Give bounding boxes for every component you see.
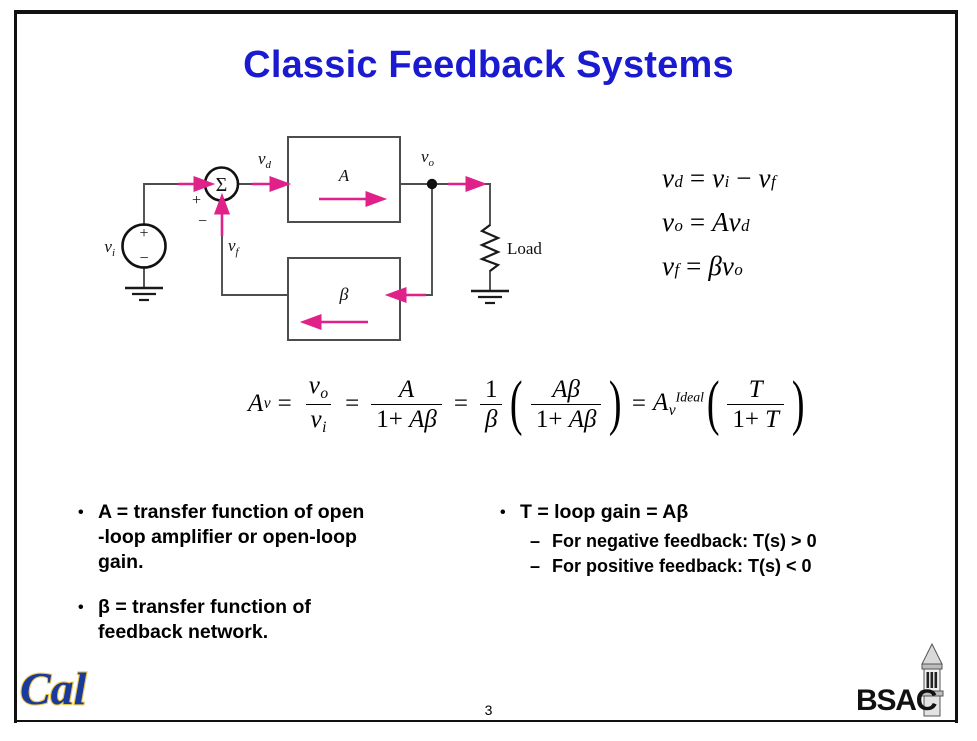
frac-A-over-1plusAbeta: A 1+ Aβ (371, 376, 442, 433)
bullet-item-T: • T = loop gain = Aβ (500, 500, 960, 525)
bsac-logo-text: BSAC (856, 684, 937, 717)
dash-marker: – (530, 554, 552, 579)
frac-Abeta-over-1plusAbeta: Aβ 1+ Aβ (531, 376, 602, 433)
closed-loop-gain-equation: Av = vo vi = A 1+ Aβ = 1 β ( Aβ 1+ Aβ ) … (248, 372, 807, 436)
label-vf: vf (228, 236, 241, 258)
label-vo: vo (421, 147, 435, 169)
summer-minus-sign: − (198, 213, 207, 230)
feedback-gain-label: β (339, 284, 349, 304)
node-equations: vd = vi − vf vo = Avd vf = βvo (662, 163, 902, 295)
load-label: Load (507, 239, 542, 258)
bullet-line: A = transfer function of open (98, 501, 364, 523)
equation-vo: vo = Avd (662, 207, 902, 251)
slide-border-top (14, 10, 958, 14)
subbullet-text: For positive feedback: T(s) < 0 (552, 554, 812, 579)
left-paren-1: ( (510, 385, 523, 423)
bullet-marker: • (78, 595, 98, 645)
bullet-spacer (78, 579, 498, 595)
bullet-text: T = loop gain = Aβ (520, 500, 960, 525)
feedback-diagram: + − vi Σ + − A β (100, 128, 660, 353)
summer-plus-sign: + (192, 192, 201, 209)
equation-vf: vf = βvo (662, 251, 902, 295)
frac-vo-vi: vo vi (304, 372, 333, 436)
load-resistor-symbol (482, 225, 498, 271)
equation-vd: vd = vi − vf (662, 163, 902, 207)
page-number: 3 (0, 702, 977, 718)
footer-divider (14, 720, 958, 722)
label-vd: vd (258, 149, 272, 171)
bullet-marker: • (78, 500, 98, 575)
bullet-list-left: • A = transfer function of open -loop am… (78, 500, 498, 649)
source-plus-sign: + (139, 225, 148, 242)
slide-border-left (14, 10, 17, 723)
bullet-line: -loop amplifier or open-loop (98, 526, 357, 548)
bullet-item-beta: • β = transfer function of feedback netw… (78, 595, 498, 645)
source-minus-sign: − (139, 250, 148, 267)
bullet-list-right: • T = loop gain = Aβ – For negative feed… (500, 500, 960, 579)
bsac-logo: BSAC (856, 642, 956, 718)
left-paren-2: ( (707, 385, 720, 423)
forward-gain-label: A (338, 166, 350, 185)
cal-logo-text: Cal (20, 663, 87, 714)
bullet-marker: • (500, 500, 520, 525)
dash-marker: – (530, 529, 552, 554)
slide-border-right (955, 10, 958, 723)
bullet-item-A: • A = transfer function of open -loop am… (78, 500, 498, 575)
bullet-line: β = transfer function of (98, 596, 311, 618)
frac-1-over-beta: 1 β (480, 376, 503, 433)
right-paren-2: ) (792, 385, 805, 423)
cal-logo: Cal (18, 660, 130, 716)
summer-sigma-symbol: Σ (216, 174, 228, 196)
subbullet-text: For negative feedback: T(s) > 0 (552, 529, 817, 554)
bullet-line: gain. (98, 551, 144, 573)
slide-title: Classic Feedback Systems (0, 44, 977, 87)
frac-T-over-1plusT: T 1+ T (727, 376, 784, 433)
bullet-subitem-positive-feedback: – For positive feedback: T(s) < 0 (530, 554, 960, 579)
right-paren-1: ) (609, 385, 622, 423)
slide: Classic Feedback Systems (0, 0, 977, 741)
label-vi: vi (104, 237, 115, 259)
bullet-line: feedback network. (98, 621, 268, 643)
bullet-subitem-negative-feedback: – For negative feedback: T(s) > 0 (530, 529, 960, 554)
output-node-dot (427, 179, 437, 189)
